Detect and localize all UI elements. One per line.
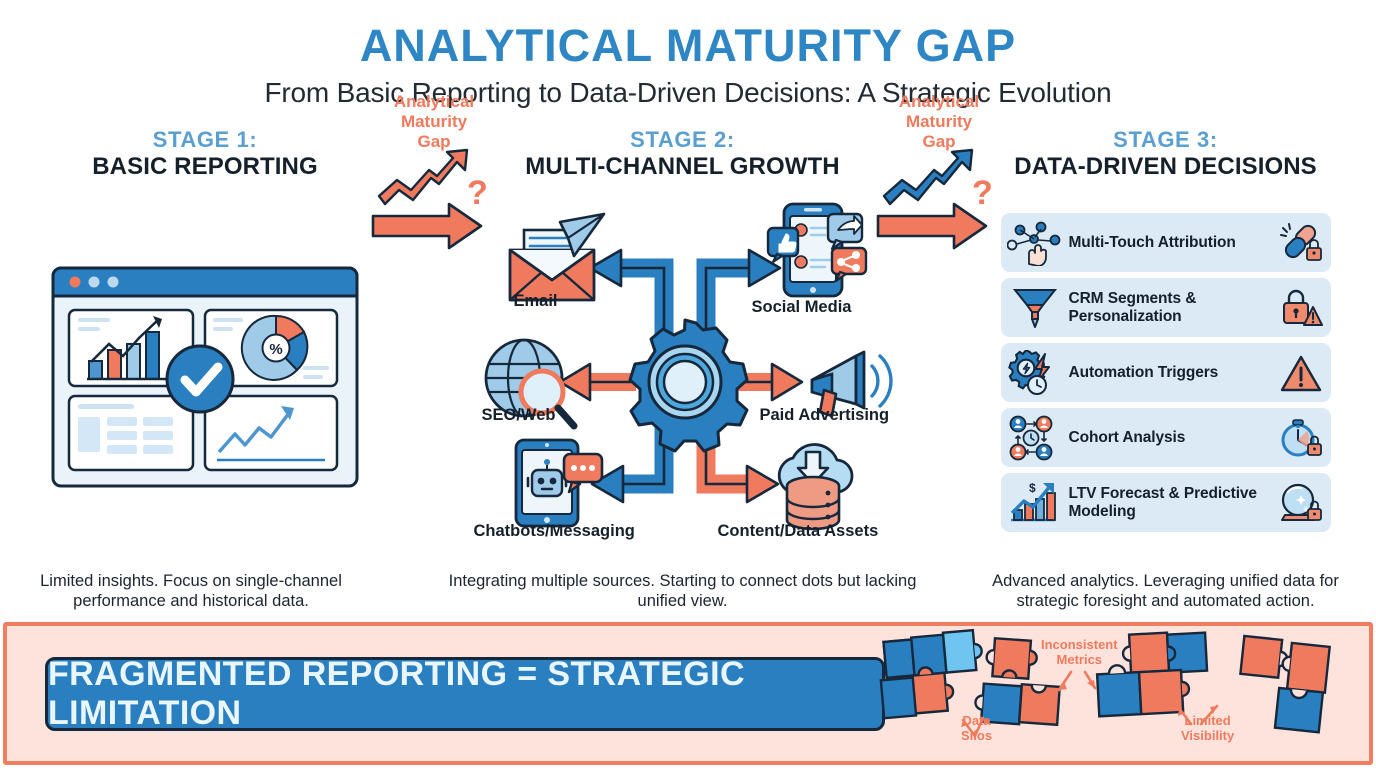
stage-1-caption: Limited insights. Focus on single-channe… — [0, 571, 396, 612]
stage-3-kicker: STAGE 3: — [1113, 128, 1218, 152]
social-media-phone-icon — [768, 204, 866, 296]
gear-bolt-clock-icon — [1007, 350, 1063, 396]
hub-label-paid-advertising: Paid Advertising — [760, 406, 890, 425]
crystal-ball-lock-icon — [1279, 482, 1323, 524]
capability-label: LTV Forecast & Predictive Modeling — [1069, 485, 1273, 521]
stage-2-kicker: STAGE 2: — [630, 128, 735, 152]
growth-dollar-chart-icon: $ — [1007, 480, 1063, 526]
puzzle-note-line-2: Silos — [961, 729, 992, 744]
capability-list: Multi-Touch Attribution — [1001, 213, 1331, 532]
stopwatch-lock-icon — [1279, 417, 1323, 459]
stage-2-visual: Email Social Media SEO/Web Paid Advertis… — [410, 181, 955, 571]
cloud-database-icon — [779, 444, 852, 528]
puzzle-note-inconsistent-metrics: Inconsistent Metrics — [1041, 638, 1118, 667]
capability-card-crm-segments-personalization[interactable]: CRM Segments & Personalization — [1001, 278, 1331, 337]
capability-card-cohort-analysis[interactable]: Cohort Analysis — [1001, 408, 1331, 467]
broken-chain-lock-icon — [1279, 222, 1323, 264]
hub-label-chatbots-messaging: Chatbots/Messaging — [474, 522, 635, 541]
cohort-users-clock-icon — [1007, 415, 1063, 461]
hub-and-spoke-diagram — [468, 194, 898, 554]
stage-2-caption: Integrating multiple sources. Starting t… — [410, 571, 955, 612]
stage-2-name: MULTI-CHANNEL GROWTH — [525, 154, 839, 180]
capability-card-multi-touch-attribution[interactable]: Multi-Touch Attribution — [1001, 213, 1331, 272]
stages-row: STAGE 1: BASIC REPORTING — [0, 128, 1376, 612]
stage-3-name: DATA-DRIVEN DECISIONS — [1014, 154, 1317, 180]
capability-label: CRM Segments & Personalization — [1069, 290, 1273, 326]
capability-label: Automation Triggers — [1069, 364, 1273, 382]
banner-headline: FRAGMENTED REPORTING = STRATEGIC LIMITAT… — [48, 655, 882, 733]
stage-3-caption: Advanced analytics. Leveraging unified d… — [956, 571, 1376, 612]
puzzle-note-line-1: Inconsistent — [1041, 638, 1118, 653]
lock-warning-icon — [1279, 287, 1323, 329]
chatbot-tablet-icon — [516, 440, 602, 526]
gear-icon — [630, 320, 747, 451]
page-title: ANALYTICAL MATURITY GAP — [0, 22, 1376, 71]
puzzle-note-limited-visibility: Limited Visibility — [1181, 714, 1234, 743]
bottom-banner: FRAGMENTED REPORTING = STRATEGIC LIMITAT… — [3, 622, 1373, 765]
capability-card-automation-triggers[interactable]: Automation Triggers — [1001, 343, 1331, 402]
stage-column-2: STAGE 2: MULTI-CHANNEL GROWTH — [410, 128, 955, 612]
hub-label-seo-web: SEO/Web — [482, 406, 556, 425]
puzzle-note-data-silos: Data Silos — [961, 714, 992, 743]
puzzle-note-line-1: Data — [961, 714, 992, 729]
warning-triangle-icon — [1279, 352, 1323, 394]
hub-label-social-media: Social Media — [752, 298, 852, 317]
capability-card-ltv-forecast-predictive-modeling[interactable]: $ LTV Forecast & Predictive Modeling — [1001, 473, 1331, 532]
hub-label-content-data-assets: Content/Data Assets — [718, 522, 879, 541]
stage-1-kicker: STAGE 1: — [153, 128, 258, 152]
puzzle-illustration: Data Silos Inconsistent Metrics Limited … — [885, 624, 1369, 763]
stage-column-3: STAGE 3: DATA-DRIVEN DECISIONS Multi-Tou… — [955, 128, 1376, 612]
puzzle-pieces-group — [879, 624, 1369, 763]
stage-3-visual: Multi-Touch Attribution — [955, 181, 1376, 571]
analytics-dashboard-icon: % — [45, 256, 365, 496]
capability-label: Multi-Touch Attribution — [1069, 234, 1273, 252]
capability-label: Cohort Analysis — [1069, 429, 1273, 447]
puzzle-note-line-2: Visibility — [1181, 729, 1234, 744]
hub-label-email: Email — [514, 292, 558, 311]
stage-1-name: BASIC REPORTING — [92, 154, 318, 180]
puzzle-note-line-2: Metrics — [1041, 653, 1118, 668]
email-envelope-icon — [510, 214, 604, 300]
funnel-icon — [1007, 285, 1063, 331]
banner-headline-pill: FRAGMENTED REPORTING = STRATEGIC LIMITAT… — [45, 657, 885, 731]
infographic-header: ANALYTICAL MATURITY GAP From Basic Repor… — [0, 0, 1376, 109]
puzzle-note-line-1: Limited — [1181, 714, 1234, 729]
page-subtitle: From Basic Reporting to Data-Driven Deci… — [0, 77, 1376, 109]
stage-1-visual: % — [0, 181, 410, 571]
stage-column-1: STAGE 1: BASIC REPORTING — [0, 128, 410, 612]
svg-text:$: $ — [1029, 481, 1036, 495]
svg-text:%: % — [269, 341, 282, 358]
touch-network-icon — [1007, 220, 1063, 266]
